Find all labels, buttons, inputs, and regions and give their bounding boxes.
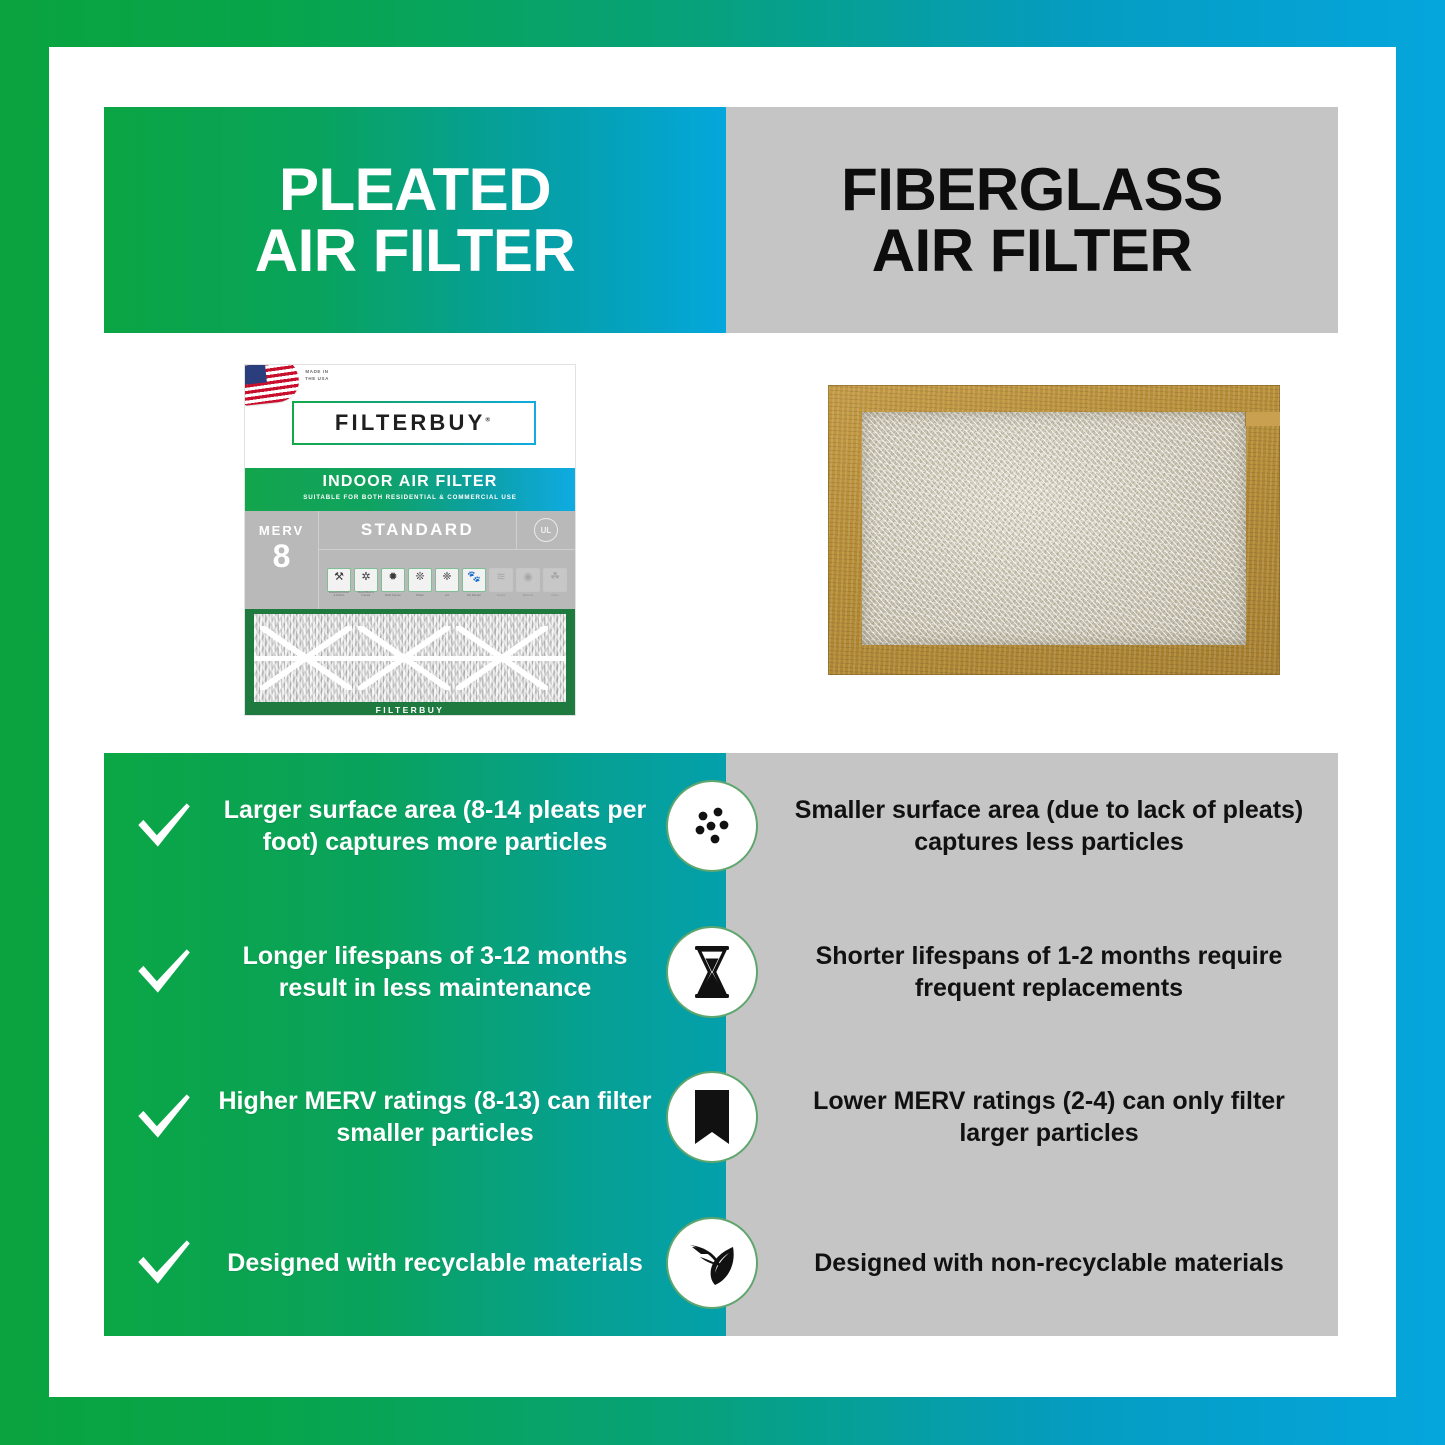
capability-tile-insect: ✲ Dust Mites & Insects <box>354 568 378 592</box>
header-pleated: PLEATED AIR FILTER <box>104 107 726 333</box>
box-capability-tiles: ⚒ Household Dust & Debris ✲ Dust Mites &… <box>319 550 575 609</box>
bookmark-icon <box>666 1071 758 1163</box>
header-fiberglass: FIBERGLASS AIR FILTER <box>726 107 1338 333</box>
feature-left-text: Larger surface area (8-14 pleats per foo… <box>206 794 664 858</box>
frame-corner-tab <box>1245 412 1280 426</box>
particles-dots-icon <box>666 780 758 872</box>
feature-left-cell: Higher MERV ratings (8-13) can filter sm… <box>104 1084 664 1150</box>
brand-name: FILTERBUY <box>335 410 486 435</box>
capability-tile-pollen: ❊ Pollen <box>408 568 432 592</box>
bacteria-icon: ◉ <box>523 572 533 583</box>
feature-left-text: Designed with recyclable materials <box>206 1247 664 1279</box>
pleated-media-texture <box>254 614 566 702</box>
ul-mark-icon: UL <box>534 518 558 542</box>
header-pleated-line2: AIR FILTER <box>255 220 576 281</box>
checkmark-icon <box>130 939 196 1005</box>
made-in-usa-label: MADE IN THE USA <box>305 369 329 383</box>
feature-center-icon <box>664 780 760 872</box>
capability-tile-dust: ⚒ Household Dust & Debris <box>327 568 351 592</box>
header-pleated-line1: PLEATED <box>279 156 551 223</box>
feature-right-text: Smaller surface area (due to lack of ple… <box>760 794 1338 858</box>
box-band-title: INDOOR AIR FILTER <box>245 473 575 491</box>
box-grade-row: STANDARD UL <box>319 511 575 550</box>
dust-icon: ⚒ <box>334 572 344 583</box>
odor-icon: ☘ <box>550 572 560 583</box>
feature-left-cell: Larger surface area (8-14 pleats per foo… <box>104 793 664 859</box>
ul-certification: UL <box>516 511 575 549</box>
capability-tile-odor: ☘ Odors <box>543 568 567 592</box>
features-comparison-panel: Larger surface area (8-14 pleats per foo… <box>104 753 1338 1336</box>
brand-trademark: ® <box>485 418 493 424</box>
capability-caption: Dust Mites & Insects <box>355 592 377 598</box>
box-grade-label: STANDARD <box>319 520 516 540</box>
feature-left-cell: Designed with recyclable materials <box>104 1230 664 1296</box>
capability-caption: Mold Spores <box>382 595 404 598</box>
box-band-subtitle: SUITABLE FOR BOTH RESIDENTIAL & COMMERCI… <box>245 494 575 501</box>
capability-tile-lint: ❈ Lint <box>435 568 459 592</box>
feature-right-text: Designed with non-recyclable materials <box>760 1247 1338 1279</box>
capability-caption: Pet Dander <box>463 595 485 598</box>
fiberglass-filter-photo <box>828 385 1280 675</box>
feature-center-icon <box>664 1217 760 1309</box>
capability-tile-smoke: ≋ Smoke <box>489 568 513 592</box>
checkmark-icon <box>130 793 196 859</box>
feature-row: Higher MERV ratings (8-13) can filter sm… <box>104 1045 1338 1191</box>
feature-left-text: Longer lifespans of 3-12 months result i… <box>206 940 664 1004</box>
capability-caption: Bacteria <box>517 595 539 598</box>
filterbuy-logo: FILTERBUY® <box>292 401 536 445</box>
box-bottom-brand: FILTERBUY <box>245 705 575 715</box>
box-indoor-band: INDOOR AIR FILTER SUITABLE FOR BOTH RESI… <box>245 468 575 511</box>
capability-caption: Pollen <box>409 595 431 598</box>
support-diamond <box>456 626 548 690</box>
feature-center-icon <box>664 1071 760 1163</box>
box-spec-section: MERV 8 STANDARD UL ⚒ Household Dust & De… <box>245 511 575 609</box>
smoke-icon: ≋ <box>496 572 505 583</box>
header-fiberglass-line1: FIBERGLASS <box>841 156 1223 223</box>
feature-center-icon <box>664 926 760 1018</box>
leaf-sprout-icon <box>666 1217 758 1309</box>
merv-value: 8 <box>273 540 291 572</box>
pleated-filter-box: MADE IN THE USA FILTERBUY® INDOOR AIR FI… <box>244 364 576 716</box>
box-merv-block: MERV 8 <box>245 511 319 609</box>
capability-caption: Household Dust & Debris <box>328 592 350 598</box>
feature-left-cell: Longer lifespans of 3-12 months result i… <box>104 939 664 1005</box>
box-filter-media-view: FILTERBUY <box>245 609 575 716</box>
checkmark-icon <box>130 1084 196 1150</box>
feature-right-text: Lower MERV ratings (2-4) can only filter… <box>760 1085 1338 1149</box>
virus-icon: ✹ <box>388 572 397 583</box>
made-in-line1: MADE IN <box>305 369 329 376</box>
support-diamond <box>358 626 450 690</box>
capability-tile-bacteria: ◉ Bacteria <box>516 568 540 592</box>
capability-caption: Smoke <box>490 595 512 598</box>
capability-caption: Lint <box>436 595 458 598</box>
header-row: PLEATED AIR FILTER FIBERGLASS AIR FILTER <box>104 107 1338 333</box>
header-fiberglass-title: FIBERGLASS AIR FILTER <box>841 159 1223 281</box>
hourglass-icon <box>666 926 758 1018</box>
made-in-line2: THE USA <box>305 376 329 383</box>
features-rows: Larger surface area (8-14 pleats per foo… <box>104 753 1338 1336</box>
insect-icon: ✲ <box>361 572 370 583</box>
box-spec-right: STANDARD UL ⚒ Household Dust & Debris ✲ … <box>319 511 575 609</box>
filterbuy-logo-text: FILTERBUY® <box>335 410 493 436</box>
capability-caption: Odors <box>544 595 566 598</box>
pollen-icon: ❊ <box>415 572 424 583</box>
checkmark-icon <box>130 1230 196 1296</box>
capability-tile-pet-dander: 🐾 Pet Dander <box>462 568 486 592</box>
support-diamond <box>260 626 352 690</box>
comparison-poster: PLEATED AIR FILTER FIBERGLASS AIR FILTER… <box>0 0 1445 1445</box>
fiberglass-media-texture <box>862 412 1246 645</box>
feature-row: Longer lifespans of 3-12 months result i… <box>104 899 1338 1045</box>
product-images-row: MADE IN THE USA FILTERBUY® INDOOR AIR FI… <box>104 333 1338 753</box>
feature-right-text: Shorter lifespans of 1-2 months require … <box>760 940 1338 1004</box>
feature-row: Designed with recyclable materials Desig… <box>104 1190 1338 1336</box>
feature-left-text: Higher MERV ratings (8-13) can filter sm… <box>206 1085 664 1149</box>
feature-row: Larger surface area (8-14 pleats per foo… <box>104 753 1338 899</box>
usa-flag-icon <box>244 364 301 406</box>
pet-paw-icon: 🐾 <box>467 572 481 583</box>
merv-label: MERV <box>259 523 304 538</box>
particles-icon: ❈ <box>442 572 451 583</box>
capability-tile-mold: ✹ Mold Spores <box>381 568 405 592</box>
box-top-section: MADE IN THE USA FILTERBUY® <box>245 365 575 468</box>
header-fiberglass-line2: AIR FILTER <box>841 220 1223 281</box>
header-pleated-title: PLEATED AIR FILTER <box>255 159 576 281</box>
